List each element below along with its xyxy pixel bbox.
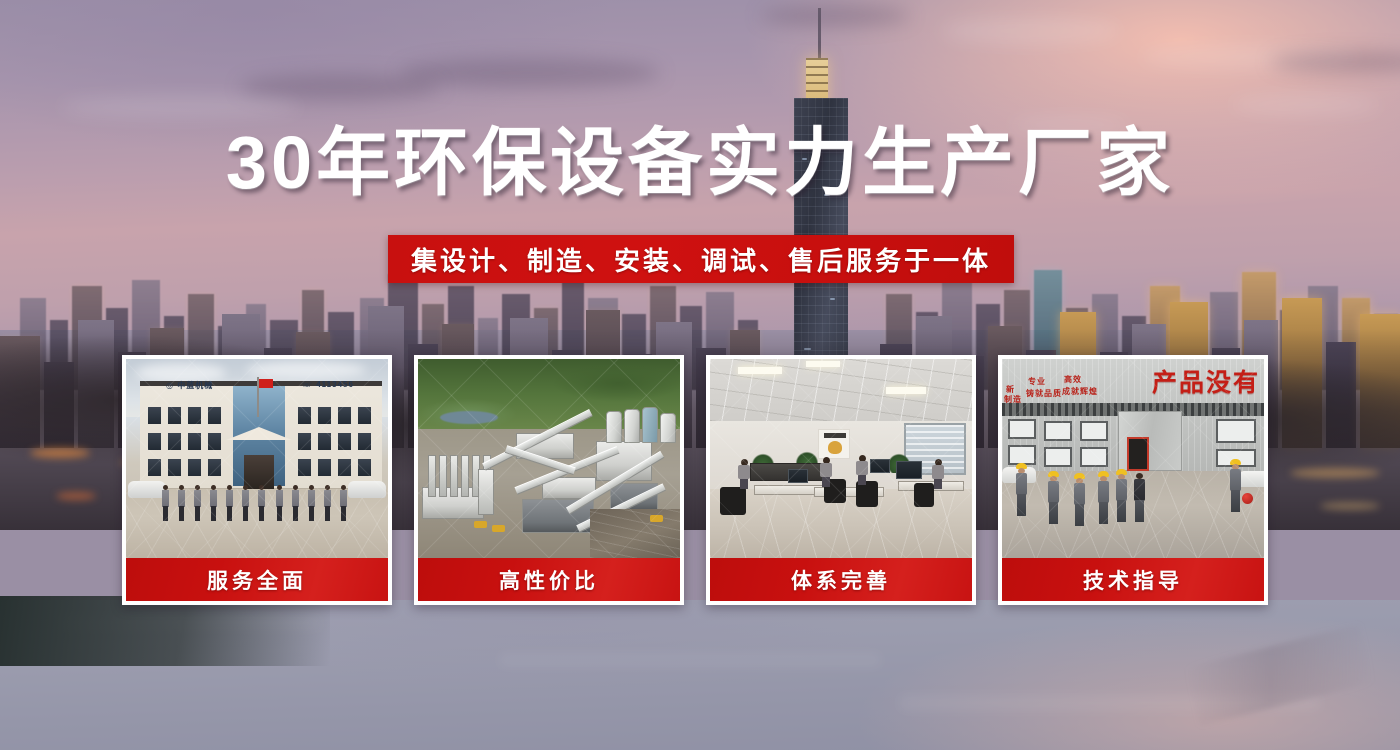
- factory-slogan-2: 专业: [1028, 377, 1046, 387]
- feature-card-row: ◎ 中蓝机械 ☏ 4113456: [122, 355, 1278, 605]
- office-workspace-photo: [710, 359, 972, 558]
- factory-slogan-6: 成就辉煌: [1062, 387, 1098, 397]
- feature-card-value[interactable]: 高性价比: [414, 355, 684, 605]
- feature-card-system[interactable]: 体系完善: [706, 355, 976, 605]
- subtitle-banner: 集设计、制造、安装、调试、售后服务于一体: [388, 235, 1014, 283]
- factory-workers-briefing-photo: 产品没有 新 专业 高效 制造 铸就品质 成就辉煌: [1002, 359, 1264, 558]
- page-title: 30年环保设备实力生产厂家: [0, 126, 1400, 200]
- shoreline: [0, 596, 330, 666]
- card-label-text: 服务全面: [207, 565, 307, 595]
- factory-slogan-3: 高效: [1064, 375, 1082, 385]
- card-label-text: 高性价比: [499, 565, 599, 595]
- factory-sign-text: 产品没有: [1152, 363, 1260, 399]
- card-label-band: 体系完善: [710, 558, 972, 601]
- subtitle-text: 集设计、制造、安装、调试、售后服务于一体: [411, 241, 991, 278]
- card-label-band: 服务全面: [126, 558, 388, 601]
- hero-banner: 30年环保设备实力生产厂家 集设计、制造、安装、调试、售后服务于一体 ◎ 中蓝机…: [0, 0, 1400, 750]
- production-plant-aerial-photo: [418, 359, 680, 558]
- card-label-text: 体系完善: [791, 565, 891, 595]
- card-label-band: 高性价比: [418, 558, 680, 601]
- factory-slogan-1: 新: [1006, 385, 1015, 395]
- factory-slogan-5: 铸就品质: [1026, 389, 1062, 399]
- card-label-text: 技术指导: [1083, 565, 1183, 595]
- feature-card-guidance[interactable]: 产品没有 新 专业 高效 制造 铸就品质 成就辉煌: [998, 355, 1268, 605]
- card-label-band: 技术指导: [1002, 558, 1264, 601]
- company-headquarters-photo: ◎ 中蓝机械 ☏ 4113456: [126, 359, 388, 558]
- feature-card-service[interactable]: ◎ 中蓝机械 ☏ 4113456: [122, 355, 392, 605]
